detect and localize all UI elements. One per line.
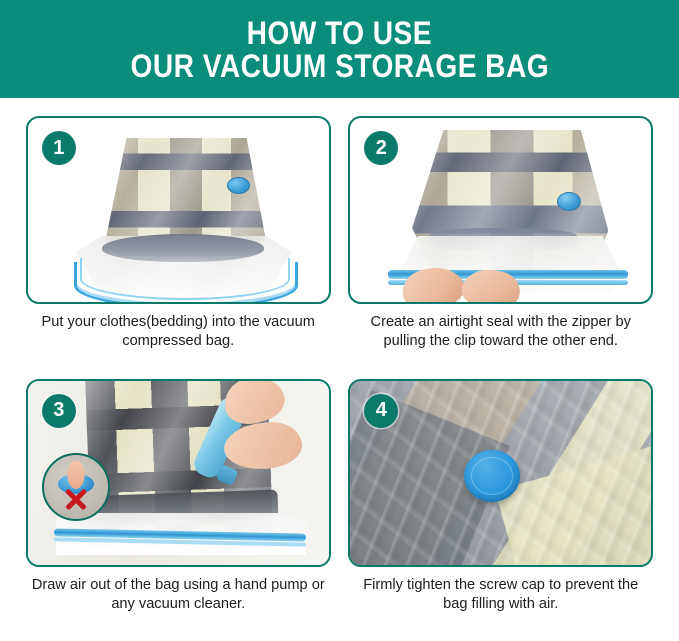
step-card-4: 4 (348, 379, 653, 567)
screw-cap-icon (464, 450, 520, 502)
step-card-1: 1 (26, 116, 331, 304)
step-badge-1: 1 (42, 131, 76, 165)
step-cell-1: 1 Put your clothes(bedding) into the vac… (20, 116, 337, 379)
step-card-2: 2 (348, 116, 653, 304)
page-title-line-2: OUR VACUUM STORAGE BAG (130, 50, 549, 83)
page-title-line-1: HOW TO USE (247, 17, 432, 50)
step-cell-4: 4 Firmly tighten the screw cap to preven… (343, 379, 660, 641)
step-badge-2: 2 (364, 131, 398, 165)
step-badge-4: 4 (364, 394, 398, 428)
step-caption-1: Put your clothes(bedding) into the vacuu… (28, 313, 328, 352)
header-banner: HOW TO USE OUR VACUUM STORAGE BAG (0, 0, 679, 98)
zipper-rim-inner-1 (80, 258, 290, 300)
steps-grid: 1 Put your clothes(bedding) into the vac… (0, 98, 679, 641)
step-caption-2: Create an airtight seal with the zipper … (351, 313, 651, 352)
inset-finger (67, 461, 84, 489)
step-caption-4: Firmly tighten the screw cap to prevent … (351, 576, 651, 615)
step-badge-3: 3 (42, 394, 76, 428)
valve-icon (557, 192, 581, 211)
step-caption-3: Draw air out of the bag using a hand pum… (28, 576, 328, 615)
screw-cap-ring (471, 457, 513, 495)
red-cross-icon (63, 486, 89, 512)
step-card-3: 3 (26, 379, 331, 567)
step-cell-3: 3 Draw air out of the bag using a hand p… (20, 379, 337, 641)
step-cell-2: 2 Create an airtight seal with the zippe… (343, 116, 660, 379)
warning-inset-circle (42, 453, 110, 521)
